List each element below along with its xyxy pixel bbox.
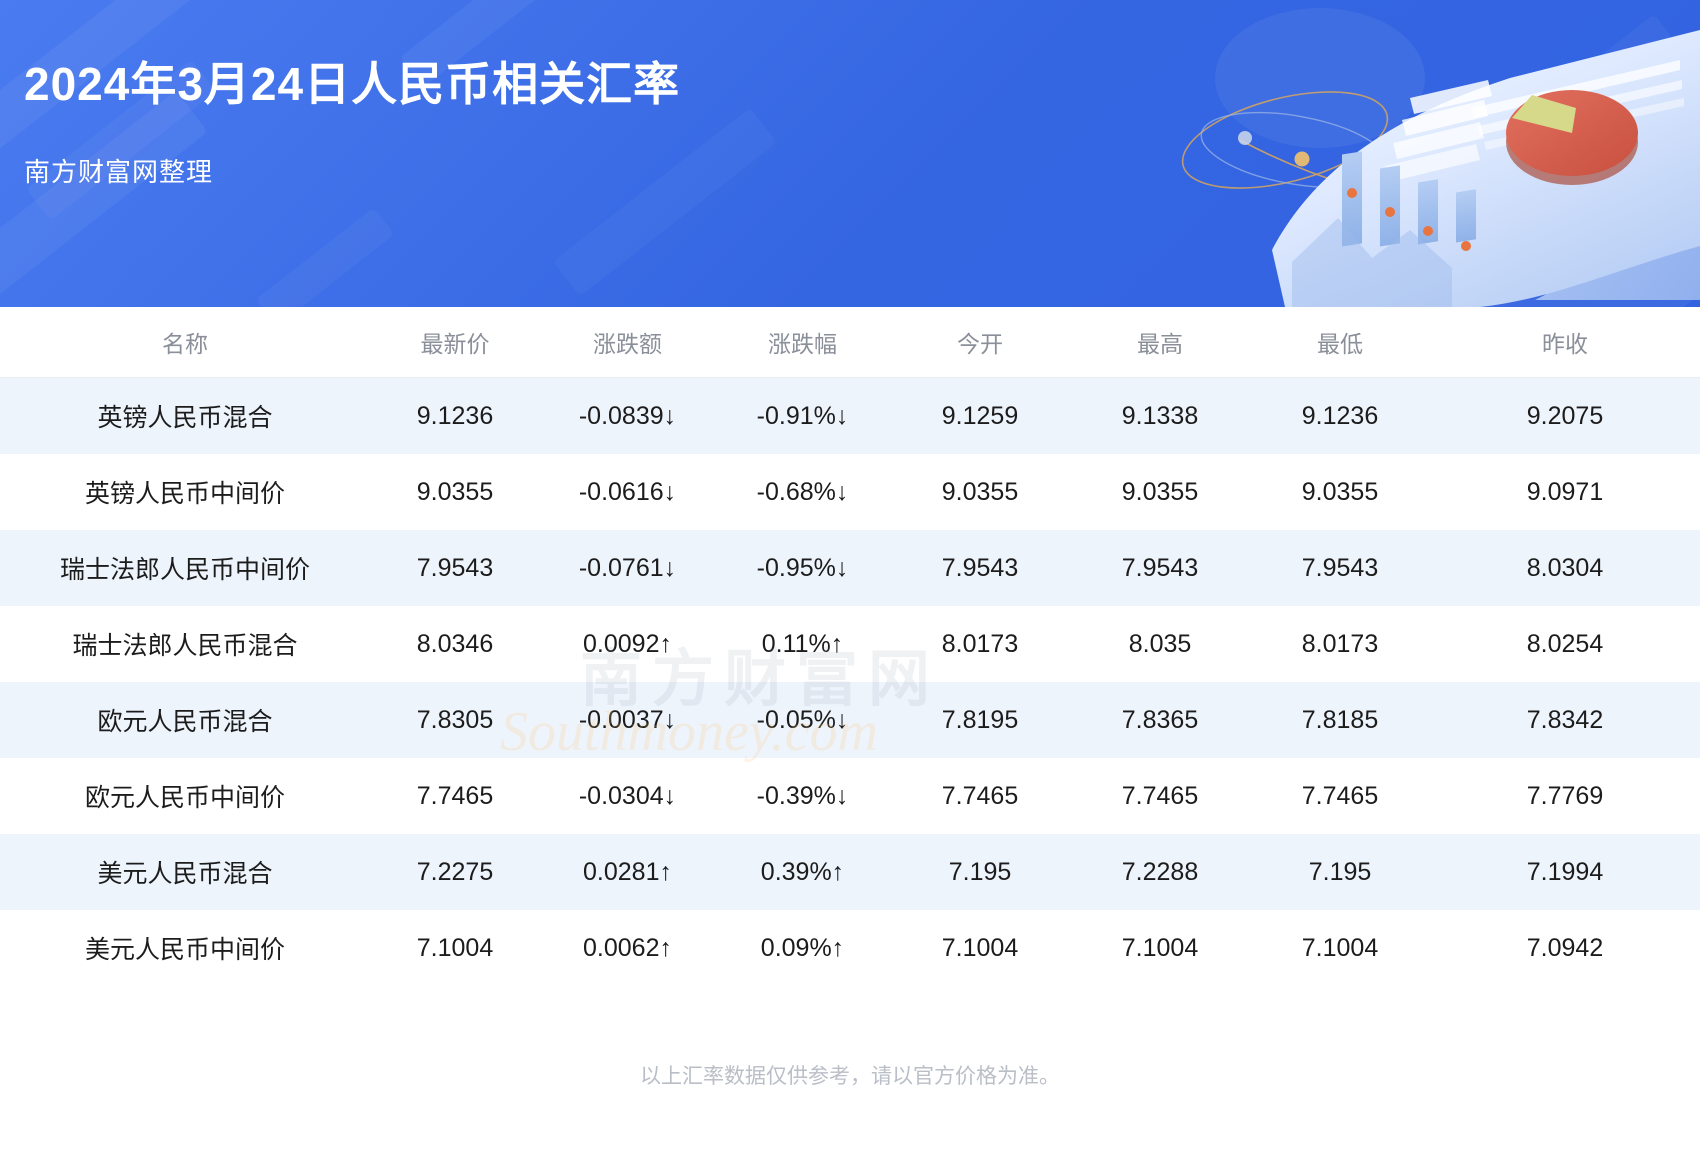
header-banner: 2024年3月24日人民币相关汇率 南方财富网整理	[0, 0, 1700, 307]
cell-open: 7.8195	[890, 682, 1070, 758]
cell-open: 7.7465	[890, 758, 1070, 834]
cell-change: -0.0304↓	[540, 758, 715, 834]
cell-prev-close: 7.7769	[1430, 758, 1700, 834]
cell-prev-close: 7.8342	[1430, 682, 1700, 758]
cell-high: 7.1004	[1070, 910, 1250, 986]
cell-last: 7.8305	[370, 682, 540, 758]
cell-high: 7.8365	[1070, 682, 1250, 758]
cell-name: 英镑人民币中间价	[0, 454, 370, 530]
cell-last: 7.1004	[370, 910, 540, 986]
cell-prev-close: 7.0942	[1430, 910, 1700, 986]
column-header-change-pct[interactable]: 涨跌幅	[715, 307, 890, 378]
cell-name: 瑞士法郎人民币中间价	[0, 530, 370, 606]
table-row[interactable]: 美元人民币混合 7.2275 0.0281↑ 0.39%↑ 7.195 7.22…	[0, 834, 1700, 910]
decorative-streak	[255, 207, 394, 307]
cell-open: 7.9543	[890, 530, 1070, 606]
cell-last: 7.9543	[370, 530, 540, 606]
cell-change-pct: 0.39%↑	[715, 834, 890, 910]
cell-prev-close: 7.1994	[1430, 834, 1700, 910]
cell-open: 9.0355	[890, 454, 1070, 530]
cell-high: 9.1338	[1070, 378, 1250, 455]
cell-change: -0.0761↓	[540, 530, 715, 606]
cell-change: 0.0092↑	[540, 606, 715, 682]
decorative-blob	[1215, 8, 1425, 148]
cell-open: 8.0173	[890, 606, 1070, 682]
cell-low: 7.8185	[1250, 682, 1430, 758]
cell-prev-close: 9.2075	[1430, 378, 1700, 455]
table-row[interactable]: 美元人民币中间价 7.1004 0.0062↑ 0.09%↑ 7.1004 7.…	[0, 910, 1700, 986]
cell-low: 7.1004	[1250, 910, 1430, 986]
cell-high: 7.9543	[1070, 530, 1250, 606]
cell-open: 7.1004	[890, 910, 1070, 986]
cell-open: 7.195	[890, 834, 1070, 910]
table-row[interactable]: 英镑人民币混合 9.1236 -0.0839↓ -0.91%↓ 9.1259 9…	[0, 378, 1700, 455]
column-header-high[interactable]: 最高	[1070, 307, 1250, 378]
cell-change: -0.0616↓	[540, 454, 715, 530]
exchange-rate-table: 名称 最新价 涨跌额 涨跌幅 今开 最高 最低 昨收 英镑人民币混合 9.123…	[0, 307, 1700, 986]
table-row[interactable]: 欧元人民币混合 7.8305 -0.0037↓ -0.05%↓ 7.8195 7…	[0, 682, 1700, 758]
cell-prev-close: 8.0304	[1430, 530, 1700, 606]
cell-change: -0.0839↓	[540, 378, 715, 455]
cell-last: 9.1236	[370, 378, 540, 455]
cell-name: 美元人民币中间价	[0, 910, 370, 986]
column-header-low[interactable]: 最低	[1250, 307, 1430, 378]
cell-change-pct: 0.11%↑	[715, 606, 890, 682]
cell-high: 7.7465	[1070, 758, 1250, 834]
disclaimer-text: 以上汇率数据仅供参考，请以官方价格为准。	[0, 1060, 1700, 1090]
cell-open: 9.1259	[890, 378, 1070, 455]
cell-high: 7.2288	[1070, 834, 1250, 910]
cell-change-pct: -0.39%↓	[715, 758, 890, 834]
cell-low: 7.7465	[1250, 758, 1430, 834]
cell-name: 瑞士法郎人民币混合	[0, 606, 370, 682]
cell-low: 7.9543	[1250, 530, 1430, 606]
decorative-streak	[553, 108, 777, 297]
cell-change-pct: 0.09%↑	[715, 910, 890, 986]
cell-last: 7.2275	[370, 834, 540, 910]
column-header-name[interactable]: 名称	[0, 307, 370, 378]
table-row[interactable]: 英镑人民币中间价 9.0355 -0.0616↓ -0.68%↓ 9.0355 …	[0, 454, 1700, 530]
column-header-last[interactable]: 最新价	[370, 307, 540, 378]
cell-change-pct: -0.68%↓	[715, 454, 890, 530]
table-row[interactable]: 欧元人民币中间价 7.7465 -0.0304↓ -0.39%↓ 7.7465 …	[0, 758, 1700, 834]
cell-high: 9.0355	[1070, 454, 1250, 530]
page-title: 2024年3月24日人民币相关汇率	[24, 48, 680, 114]
table-row[interactable]: 瑞士法郎人民币混合 8.0346 0.0092↑ 0.11%↑ 8.0173 8…	[0, 606, 1700, 682]
cell-change: -0.0037↓	[540, 682, 715, 758]
cell-change: 0.0062↑	[540, 910, 715, 986]
column-header-prev-close[interactable]: 昨收	[1430, 307, 1700, 378]
cell-prev-close: 9.0971	[1430, 454, 1700, 530]
page-subtitle: 南方财富网整理	[24, 152, 213, 189]
cell-low: 9.1236	[1250, 378, 1430, 455]
decorative-streak	[0, 91, 208, 307]
financial-report-illustration	[1080, 0, 1700, 307]
cell-name: 欧元人民币中间价	[0, 758, 370, 834]
cell-name: 欧元人民币混合	[0, 682, 370, 758]
cell-name: 英镑人民币混合	[0, 378, 370, 455]
cell-high: 8.035	[1070, 606, 1250, 682]
exchange-rate-table-container: 名称 最新价 涨跌额 涨跌幅 今开 最高 最低 昨收 英镑人民币混合 9.123…	[0, 307, 1700, 1150]
cell-change: 0.0281↑	[540, 834, 715, 910]
decorative-streak	[1364, 195, 1536, 307]
decorative-blob	[1420, 150, 1700, 307]
cell-last: 7.7465	[370, 758, 540, 834]
table-body: 英镑人民币混合 9.1236 -0.0839↓ -0.91%↓ 9.1259 9…	[0, 378, 1700, 987]
cell-name: 美元人民币混合	[0, 834, 370, 910]
cell-low: 7.195	[1250, 834, 1430, 910]
table-header-row: 名称 最新价 涨跌额 涨跌幅 今开 最高 最低 昨收	[0, 307, 1700, 378]
cell-low: 8.0173	[1250, 606, 1430, 682]
cell-low: 9.0355	[1250, 454, 1430, 530]
cell-prev-close: 8.0254	[1430, 606, 1700, 682]
column-header-change[interactable]: 涨跌额	[540, 307, 715, 378]
column-header-open[interactable]: 今开	[890, 307, 1070, 378]
cell-change-pct: -0.05%↓	[715, 682, 890, 758]
table-row[interactable]: 瑞士法郎人民币中间价 7.9543 -0.0761↓ -0.95%↓ 7.954…	[0, 530, 1700, 606]
cell-last: 9.0355	[370, 454, 540, 530]
cell-change-pct: -0.95%↓	[715, 530, 890, 606]
cell-last: 8.0346	[370, 606, 540, 682]
cell-change-pct: -0.91%↓	[715, 378, 890, 455]
decorative-streak	[1528, 14, 1673, 136]
